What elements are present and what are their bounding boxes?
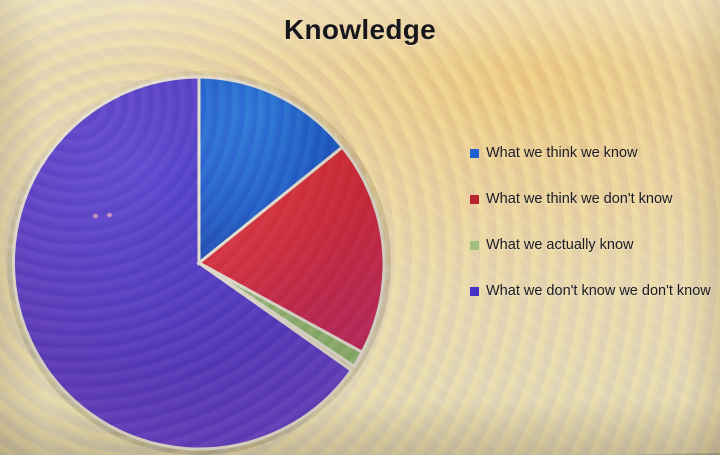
legend-item[interactable]: What we think we know bbox=[470, 144, 716, 163]
legend-swatch-icon bbox=[470, 195, 479, 204]
legend-item[interactable]: What we don't know we don't know bbox=[470, 282, 716, 301]
pie-chart bbox=[7, 71, 391, 455]
legend-item[interactable]: What we think we don't know bbox=[470, 190, 716, 209]
chart-title: Knowledge bbox=[0, 14, 720, 46]
slide-canvas: Knowledge bbox=[0, 0, 720, 455]
chart-legend: What we think we know What we think we d… bbox=[470, 144, 716, 328]
legend-item-label: What we don't know we don't know bbox=[486, 282, 711, 301]
legend-item-label: What we think we don't know bbox=[486, 190, 673, 209]
legend-swatch-icon bbox=[470, 287, 479, 296]
legend-item-label: What we think we know bbox=[486, 144, 638, 163]
legend-item-label: What we actually know bbox=[486, 236, 633, 255]
pie-svg bbox=[7, 71, 391, 455]
legend-swatch-icon bbox=[470, 149, 479, 158]
legend-swatch-icon bbox=[470, 241, 479, 250]
legend-item[interactable]: What we actually know bbox=[470, 236, 716, 255]
